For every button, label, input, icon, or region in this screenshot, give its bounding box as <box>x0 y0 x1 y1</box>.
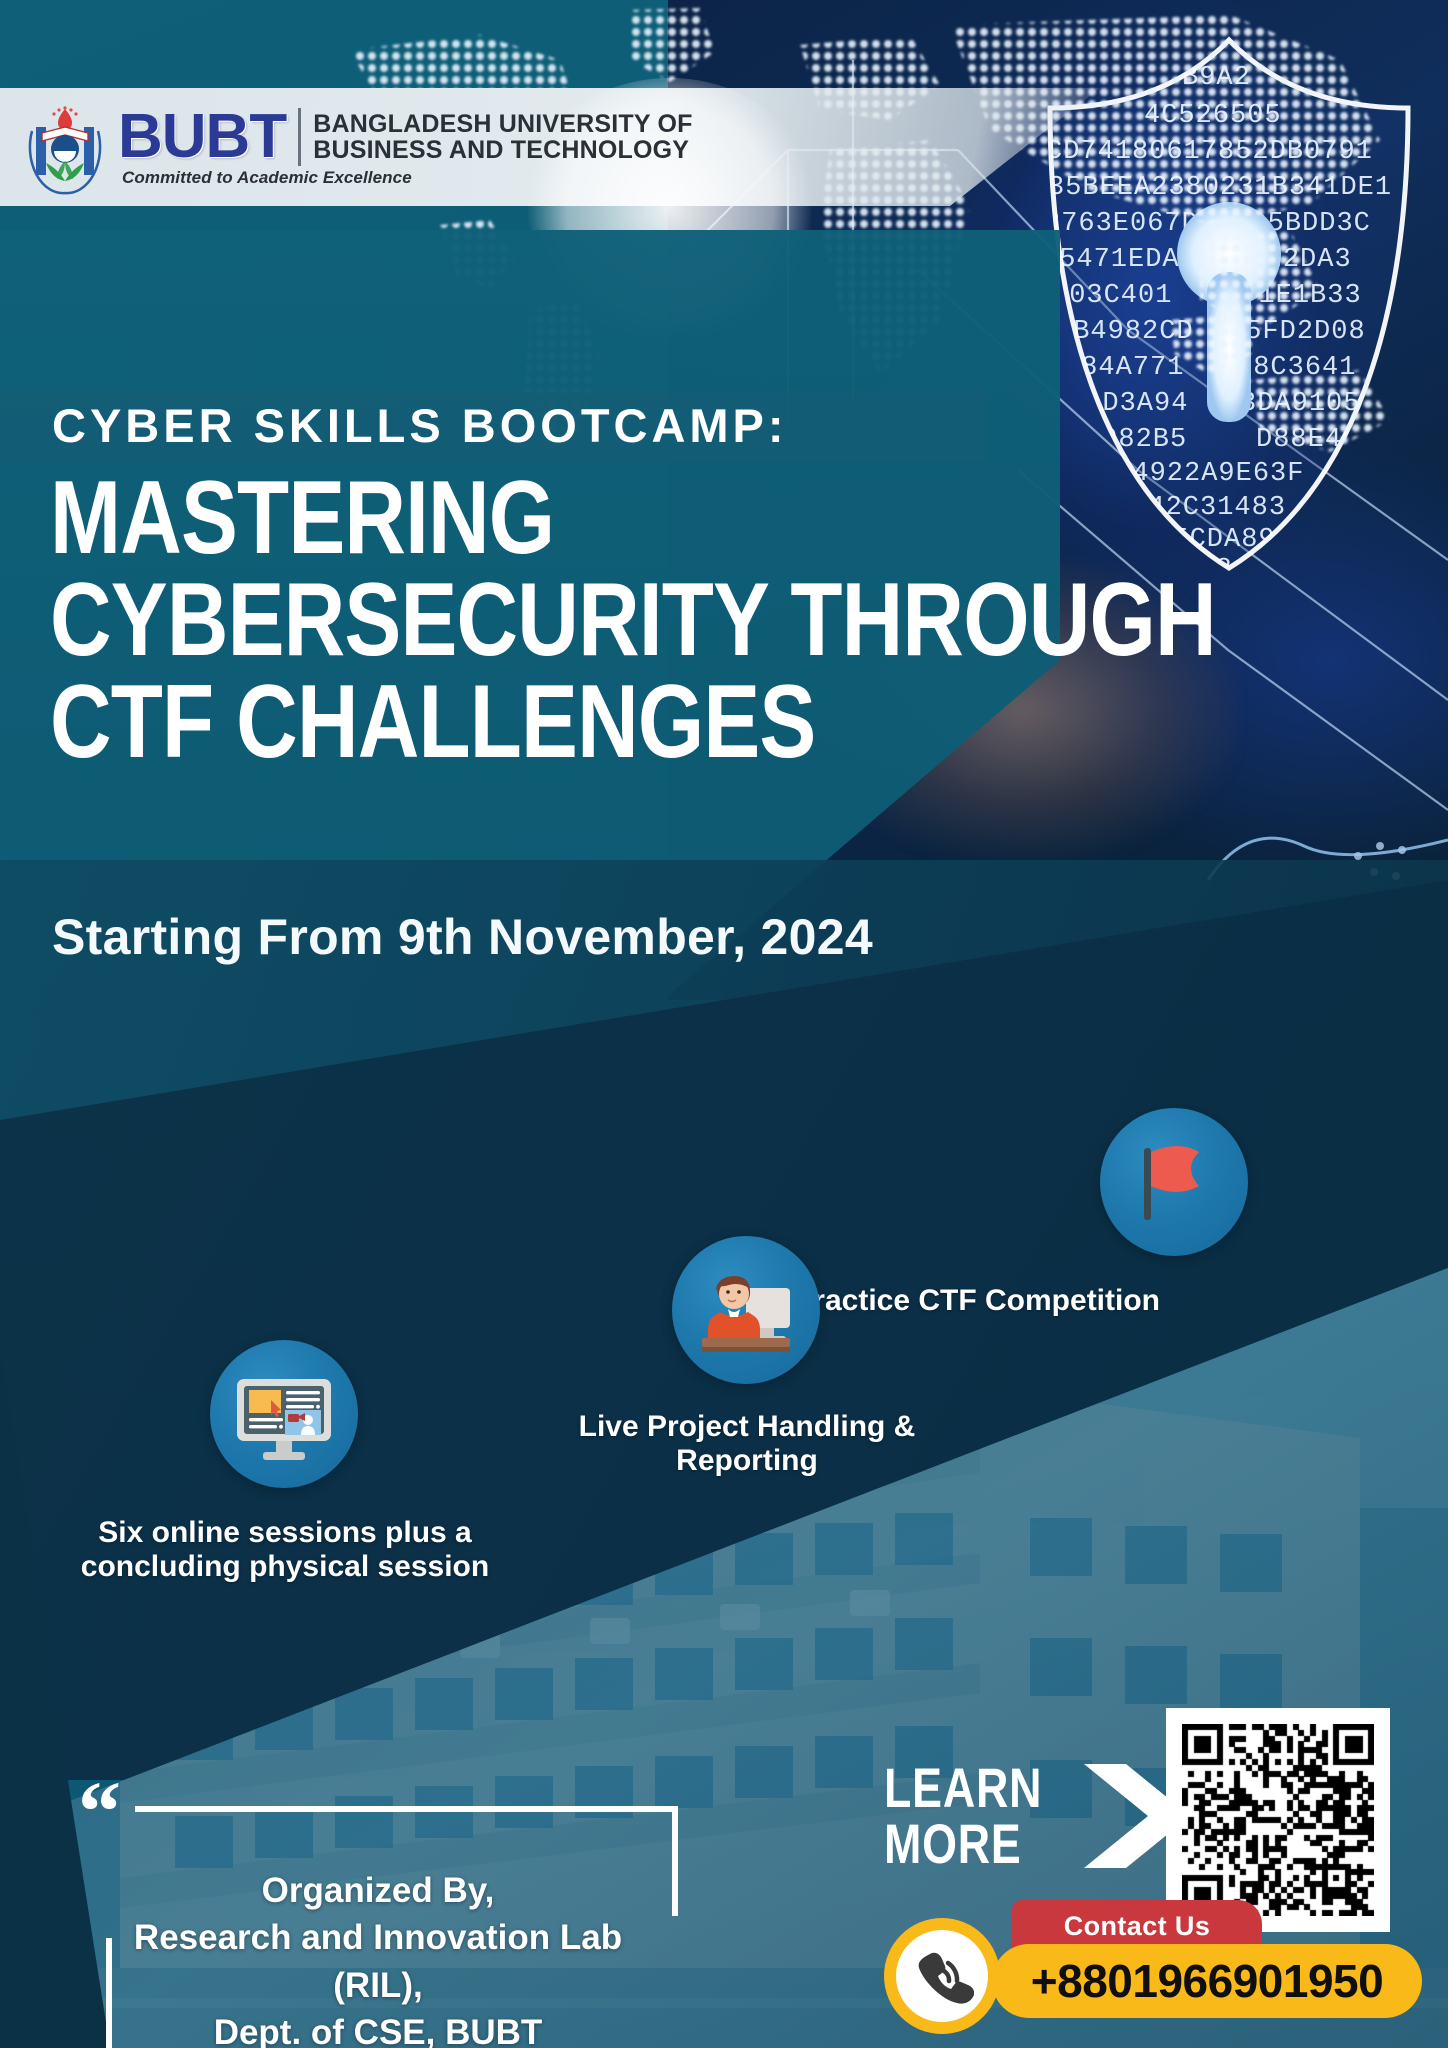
title-line-1: MASTERING <box>50 468 993 570</box>
contact-block[interactable]: Contact Us +8801966901950 <box>884 1900 1424 2018</box>
feature-live-project: Live Project Handling & Reporting <box>672 1236 820 1384</box>
quote-top-row: “ <box>78 1790 678 1833</box>
phone-badge <box>884 1918 1000 2034</box>
university-tagline: Committed to Academic Excellence <box>122 168 693 188</box>
learn-more-line-1: LEARN <box>884 1760 1042 1816</box>
title-line-2: CYBERSECURITY THROUGH <box>50 570 993 672</box>
bubt-logo-lockup: BUBT BANGLADESH UNIVERSITY OF BUSINESS A… <box>26 96 693 200</box>
feature-icon-circle <box>210 1340 358 1488</box>
logo-acronym: BUBT <box>118 109 286 165</box>
learn-more-line-2: MORE <box>884 1816 1042 1872</box>
quote-open-icon: “ <box>78 1790 121 1833</box>
kicker-box: CYBER SKILLS BOOTCAMP: <box>0 392 985 461</box>
qr-code-icon[interactable] <box>1182 1724 1374 1916</box>
feature-caption: Live Project Handling & Reporting <box>532 1410 962 1477</box>
poster-canvas: B9A2 4C526505 CD74180617852DB0791 35BEEA… <box>0 0 1448 2048</box>
organizer-line-2: Research and Innovation Lab (RIL), <box>108 1914 648 2009</box>
kicker-wrapper: CYBER SKILLS BOOTCAMP: <box>0 392 985 461</box>
contact-us-text: Contact Us <box>1064 1911 1211 1942</box>
feature-online-sessions: Six online sessions plus a concluding ph… <box>210 1340 358 1488</box>
title-line-3: CTF CHALLENGES <box>50 672 993 774</box>
kicker-text: CYBER SKILLS BOOTCAMP: <box>52 402 963 449</box>
page-title: MASTERING CYBERSECURITY THROUGH CTF CHAL… <box>50 468 1200 774</box>
red-flag-icon <box>1122 1130 1226 1234</box>
start-date-text: Starting From 9th November, 2024 <box>52 908 873 966</box>
phone-badge-inner <box>896 1930 988 2022</box>
organizer-quote-block: “ Organized By, Research and Innovation … <box>78 1790 678 2048</box>
learn-more-label: LEARN MORE <box>884 1760 1042 1872</box>
feature-caption: Six online sessions plus a concluding ph… <box>65 1516 505 1583</box>
organizer-line-1: Organized By, <box>108 1867 648 1914</box>
quote-rule-top <box>135 1806 678 1812</box>
feature-icon-circle <box>672 1236 820 1384</box>
feature-ctf-competition: Practice CTF Competition <box>1100 1108 1248 1256</box>
phone-ringing-icon <box>910 1944 974 2008</box>
feature-icon-circle <box>1100 1108 1248 1256</box>
quote-rule-right <box>672 1806 678 1916</box>
logo-divider <box>298 108 301 166</box>
person-at-desk-icon <box>690 1254 802 1366</box>
qr-code-frame[interactable] <box>1166 1708 1390 1932</box>
monitor-webinar-icon <box>227 1357 341 1471</box>
organizer-line-3: Dept. of CSE, BUBT <box>108 2009 648 2048</box>
university-name-line2: BUSINESS AND TECHNOLOGY <box>313 136 689 164</box>
phone-number: +8801966901950 <box>1031 1954 1383 2008</box>
phone-pill[interactable]: +8801966901950 <box>992 1944 1422 2018</box>
university-name-line1: BANGLADESH UNIVERSITY OF <box>313 110 692 138</box>
organizer-text: Organized By, Research and Innovation La… <box>78 1833 678 2048</box>
bubt-crest-icon <box>26 101 104 195</box>
university-name: BANGLADESH UNIVERSITY OF BUSINESS AND TE… <box>313 111 692 164</box>
quote-rule-left <box>106 1938 112 2048</box>
